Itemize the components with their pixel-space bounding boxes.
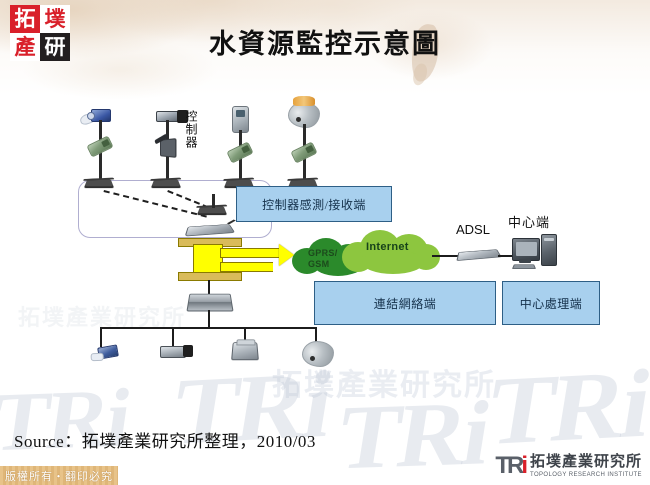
cloud-gprs-label-line1: GPRS/ <box>308 248 338 258</box>
yellow-arrow-shaft <box>220 248 281 258</box>
fax-machine-icon <box>231 342 259 360</box>
tri-footer-mark-letters: TR <box>495 452 521 479</box>
link-switch-to-bus <box>208 310 210 328</box>
cloud-lobe-l5 <box>362 250 424 274</box>
callout-sensor-receiver: 控制器感測/接收端 <box>236 186 392 222</box>
printer-icon <box>160 346 186 358</box>
bus-drop-2 <box>172 327 174 347</box>
network-switch-icon <box>186 294 233 312</box>
copyright-text: 版權所有‧翻印必究 <box>5 468 113 484</box>
pc-tower-icon <box>541 234 557 266</box>
callout-center-processing: 中心處理端 <box>502 281 600 325</box>
cloud-gprs-label-line2: GSM <box>308 259 329 269</box>
adsl-label: ADSL <box>456 222 490 237</box>
lan-bus-line <box>100 327 316 329</box>
adsl-modem-icon <box>456 249 501 261</box>
yellow-arrow-shaft-2 <box>220 262 273 272</box>
base-station-icon-1 <box>85 179 114 186</box>
tri-footer-name-cn: 拓墣產業研究所 <box>530 455 642 470</box>
callout-network-link: 連結網絡端 <box>314 281 496 325</box>
link-gateway-down <box>208 280 210 294</box>
base-station-icon-2 <box>152 179 181 186</box>
slide-canvas: TRi TRi TRi TRi 拓墣產業研究所 拓墣產業研究所 拓 墣 產 研 … <box>0 0 650 485</box>
yellow-platform-bottom <box>178 272 242 281</box>
tri-footer-text: 拓墣產業研究所 TOPOLOGY RESEARCH INSTITUTE <box>530 455 642 478</box>
pc-monitor-stand <box>519 259 531 263</box>
tri-footer-logo: TRi 拓墣產業研究所 TOPOLOGY RESEARCH INSTITUTE <box>495 452 642 480</box>
copyright-bar: 版權所有‧翻印必究 <box>0 466 118 485</box>
bus-drop-1 <box>100 327 102 347</box>
device-cluster-icon <box>302 341 334 367</box>
cloud-internet: Internet <box>342 228 442 276</box>
tri-footer-mark: TRi <box>495 454 525 478</box>
ip-phone-icon <box>97 344 119 359</box>
tri-footer-name-en: TOPOLOGY RESEARCH INSTITUTE <box>530 472 642 478</box>
tri-footer-mark-i: i <box>521 452 525 479</box>
watermark-tri-3: TRi <box>331 379 496 485</box>
aggregator-mast <box>212 194 215 208</box>
cloud-internet-label: Internet <box>366 242 409 252</box>
device-cluster-dot-icon <box>310 356 315 361</box>
center-label: 中心端 <box>508 212 550 231</box>
water-resource-monitoring-diagram: 控制器 GPRS/ GSM <box>60 98 620 388</box>
source-note: Source：拓墣產業研究所整理，2010/03 <box>14 427 316 452</box>
pc-keyboard-icon <box>512 264 536 269</box>
pc-monitor-icon <box>512 238 540 261</box>
